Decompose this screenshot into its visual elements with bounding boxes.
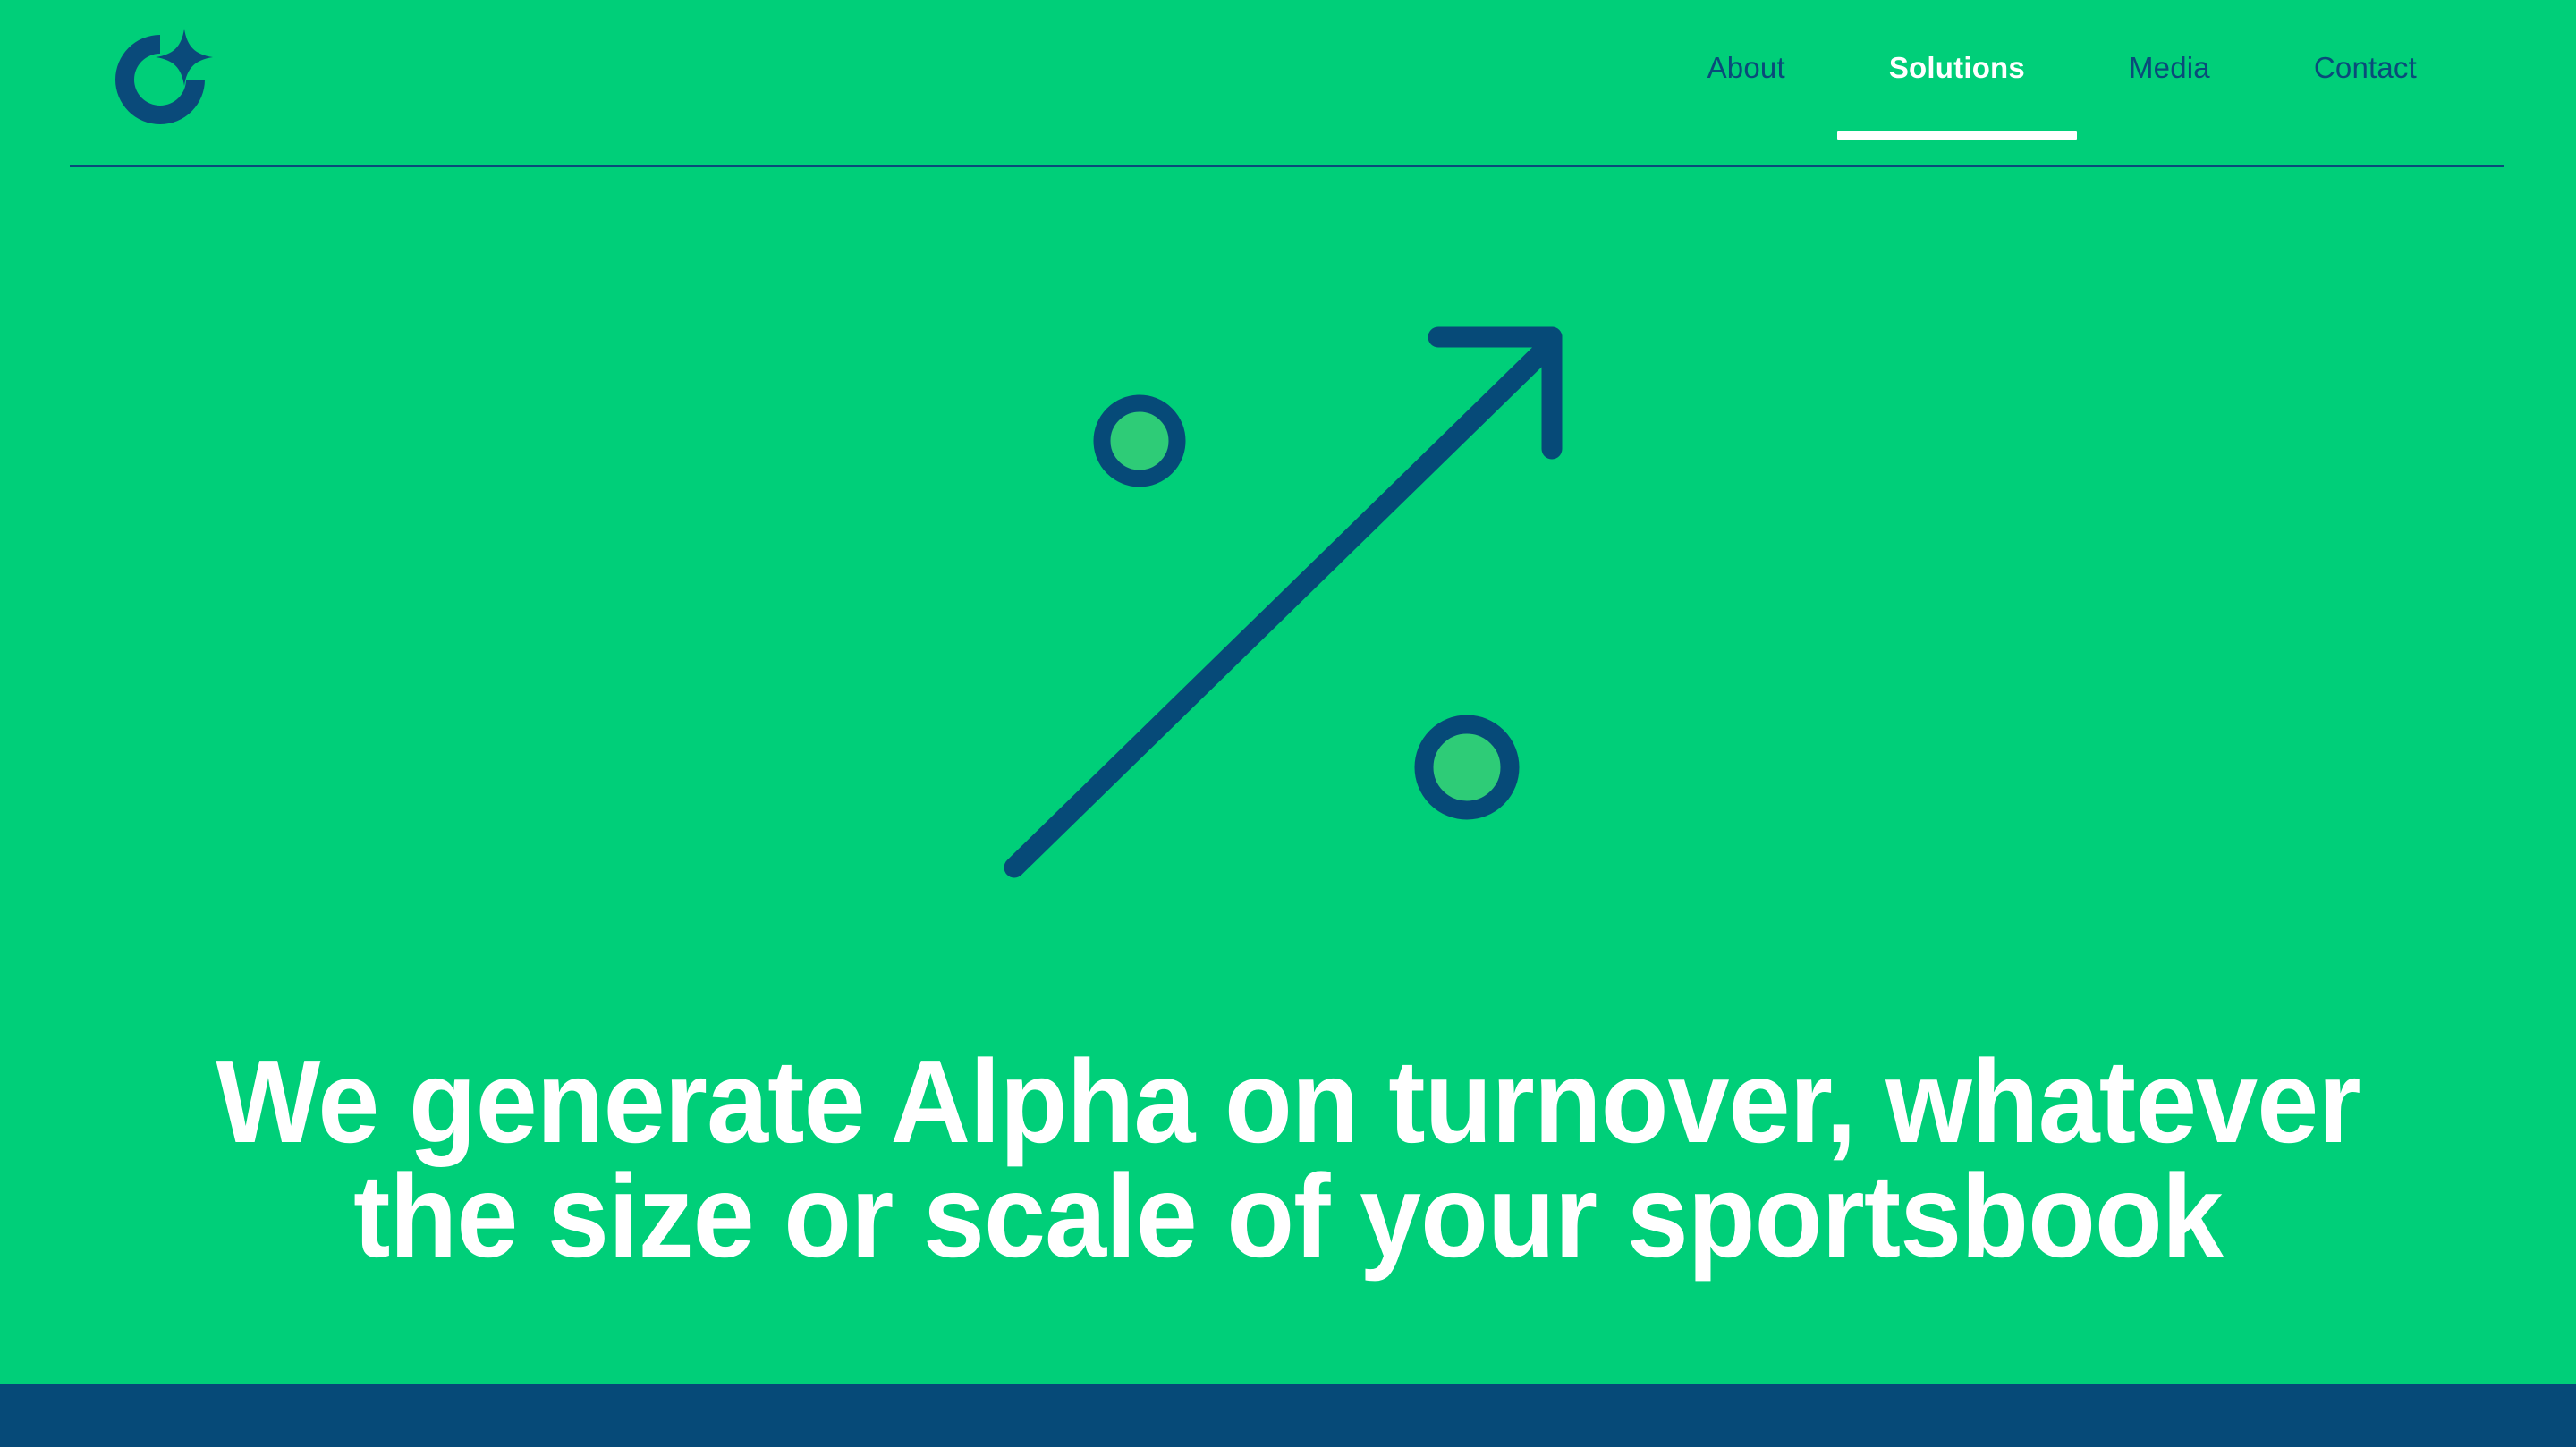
main-nav: About Solutions Media Contact <box>1656 52 2469 84</box>
nav-slot-about: About <box>1656 52 1837 84</box>
circle-outline-small <box>1102 403 1177 478</box>
page-root: About Solutions Media Contact <box>0 0 2576 1447</box>
growth-arrow-illustration <box>966 295 1682 921</box>
header-divider <box>70 165 2504 167</box>
nav-item-solutions[interactable]: Solutions <box>1889 52 2025 84</box>
headline-line-2: the size or scale of your sportsbook <box>153 1159 2423 1274</box>
nav-item-media[interactable]: Media <box>2129 52 2210 84</box>
nav-slot-solutions: Solutions <box>1837 52 2077 84</box>
circle-outline-large <box>1424 724 1510 810</box>
nav-item-about[interactable]: About <box>1707 52 1785 84</box>
nav-slot-contact: Contact <box>2262 52 2469 84</box>
site-header: About Solutions Media Contact <box>0 0 2576 166</box>
active-tab-underline <box>1837 131 2077 140</box>
headline-line-1: We generate Alpha on turnover, whatever <box>153 1045 2423 1159</box>
logo-link[interactable] <box>106 25 215 134</box>
nav-item-contact[interactable]: Contact <box>2314 52 2417 84</box>
nav-slot-media: Media <box>2077 52 2262 84</box>
page-headline: We generate Alpha on turnover, whatever … <box>77 1045 2498 1274</box>
bottom-accent-bar <box>0 1384 2576 1447</box>
circular-sparkle-logo-icon <box>106 25 215 134</box>
